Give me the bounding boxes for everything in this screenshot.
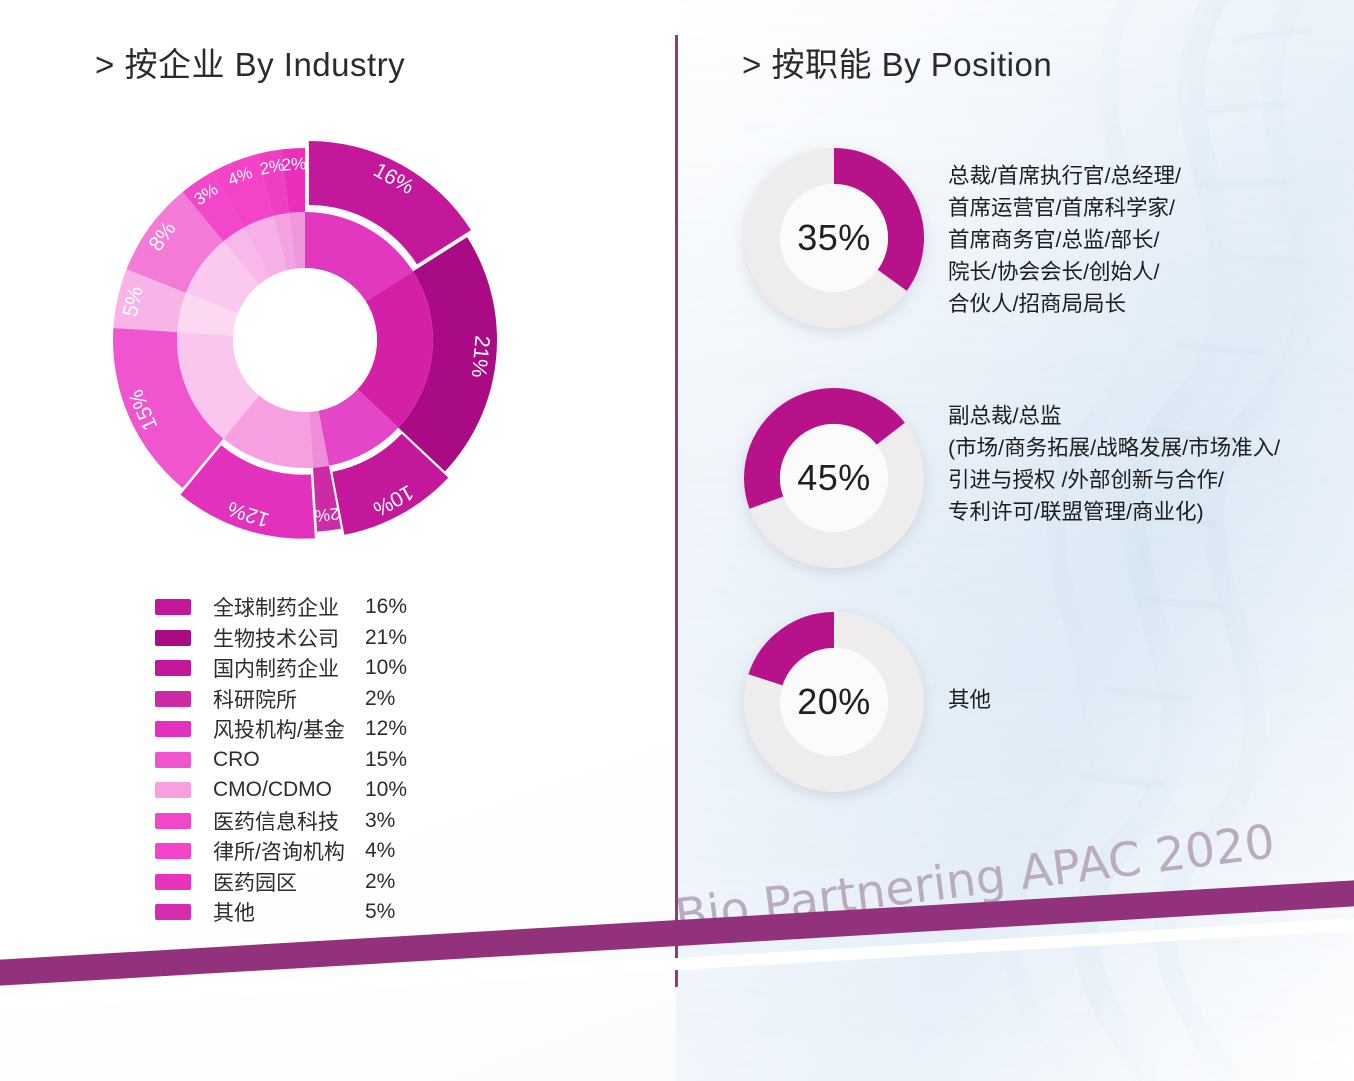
legend-swatch <box>155 691 191 707</box>
legend-value: 12% <box>365 717 407 741</box>
legend-row: CRO15% <box>155 745 455 776</box>
legend-row: CMO/CDMO10% <box>155 775 455 806</box>
legend-label: CRO <box>213 748 365 772</box>
legend-label: 律所/咨询机构 <box>213 836 365 866</box>
legend-row: 全球制药企业16% <box>155 592 455 623</box>
position-ring-1-description: 总裁/首席执行官/总经理/ 首席运营官/首席科学家/ 首席商务官/总监/部长/ … <box>948 160 1181 320</box>
legend-label: 风投机构/基金 <box>213 714 365 744</box>
legend-swatch <box>155 752 191 768</box>
legend-label: 生物技术公司 <box>213 623 365 653</box>
legend-swatch <box>155 721 191 737</box>
legend-value: 3% <box>365 809 395 833</box>
panel-divider <box>675 35 678 987</box>
legend-swatch <box>155 904 191 920</box>
legend-label: 医药信息科技 <box>213 806 365 836</box>
legend-swatch <box>155 874 191 890</box>
legend-swatch <box>155 813 191 829</box>
legend-label: 科研院所 <box>213 684 365 714</box>
ring-45: 45% <box>744 388 924 568</box>
legend-row: 风投机构/基金12% <box>155 714 455 745</box>
donut-slice-label: 2% <box>281 154 307 175</box>
legend-label: 全球制药企业 <box>213 592 365 622</box>
legend-value: 2% <box>365 687 395 711</box>
legend-value: 16% <box>365 595 407 619</box>
donut-hole <box>233 268 377 412</box>
industry-donut-svg: 16%21%10%2%12%15%5%8%3%4%2%2% <box>90 118 520 558</box>
slide-canvas: > 按企业 By Industry > 按职能 By Position 16%2… <box>0 0 1354 1081</box>
position-ring-block-1: 35% <box>744 148 924 328</box>
legend-swatch <box>155 599 191 615</box>
position-ring-3-description: 其他 <box>948 684 991 716</box>
position-ring-block-2: 45% <box>744 388 924 568</box>
legend-row: 其他5% <box>155 897 455 928</box>
legend-row: 医药信息科技3% <box>155 806 455 837</box>
legend-label: 其他 <box>213 897 365 927</box>
legend-value: 5% <box>365 900 395 924</box>
legend-value: 2% <box>365 870 395 894</box>
legend-row: 生物技术公司21% <box>155 623 455 654</box>
legend-value: 15% <box>365 748 407 772</box>
page-title-left: > 按企业 By Industry <box>95 38 405 86</box>
legend-label: 医药园区 <box>213 867 365 897</box>
legend-value: 21% <box>365 626 407 650</box>
ring-35: 35% <box>744 148 924 328</box>
legend-label: CMO/CDMO <box>213 778 365 802</box>
legend-row: 科研院所2% <box>155 684 455 715</box>
donut-slice-label: 21% <box>467 335 494 379</box>
ring-45-svg <box>744 388 924 568</box>
legend-swatch <box>155 843 191 859</box>
donut-slice-label: 2% <box>314 504 341 526</box>
ring-35-svg <box>744 148 924 328</box>
ring-20-svg <box>744 612 924 792</box>
legend-value: 10% <box>365 656 407 680</box>
legend-row: 医药园区2% <box>155 867 455 898</box>
page-title-right: > 按职能 By Position <box>742 38 1052 86</box>
legend-row: 国内制药企业10% <box>155 653 455 684</box>
ring-20: 20% <box>744 612 924 792</box>
legend-swatch <box>155 660 191 676</box>
industry-donut-chart: 16%21%10%2%12%15%5%8%3%4%2%2% <box>90 118 520 558</box>
legend-label: 国内制药企业 <box>213 653 365 683</box>
position-ring-block-3: 20% <box>744 612 924 792</box>
legend-value: 4% <box>365 839 395 863</box>
legend-swatch <box>155 782 191 798</box>
legend-row: 律所/咨询机构4% <box>155 836 455 867</box>
industry-legend: 全球制药企业16%生物技术公司21%国内制药企业10%科研院所2%风投机构/基金… <box>155 592 455 928</box>
position-ring-2-description: 副总裁/总监 (市场/商务拓展/战略发展/市场准入/ 引进与授权 /外部创新与合… <box>948 400 1280 528</box>
legend-swatch <box>155 630 191 646</box>
legend-value: 10% <box>365 778 407 802</box>
